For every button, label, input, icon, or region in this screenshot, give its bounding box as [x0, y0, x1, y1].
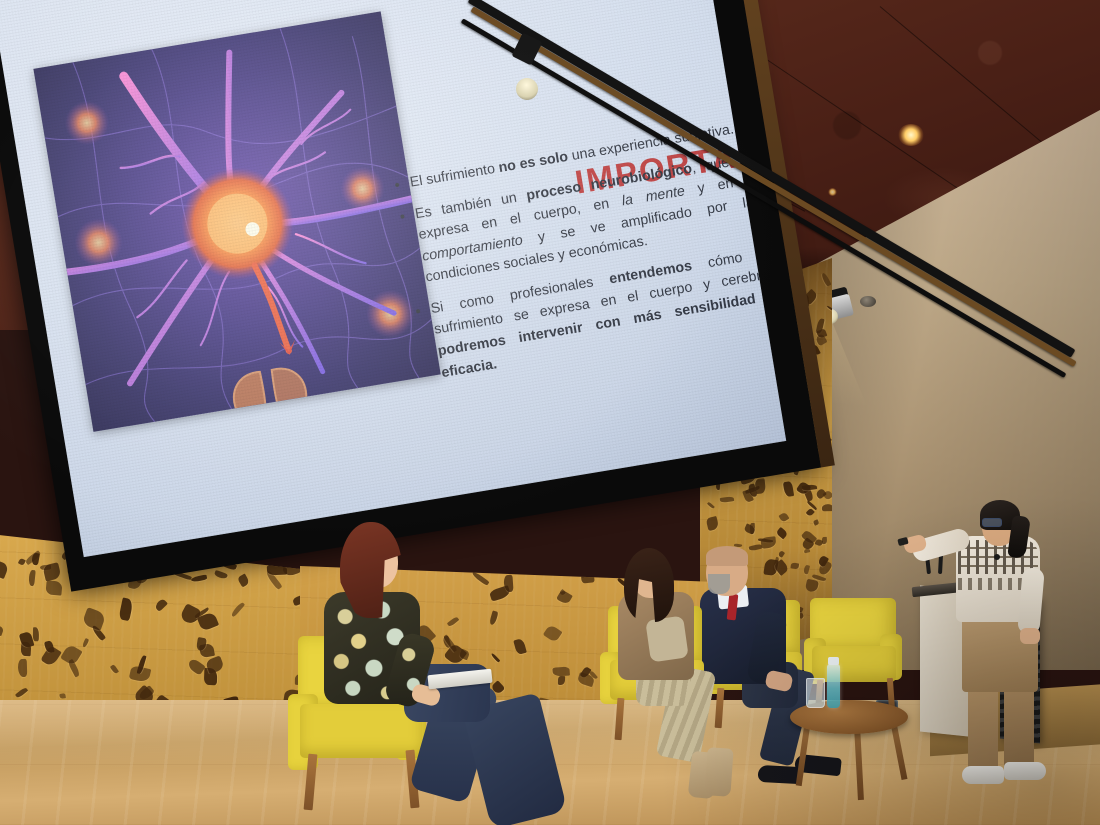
- presenter-shoe: [962, 766, 1004, 784]
- auditorium-scene: IMPORTANTE El sufrimiento no es solo una…: [0, 0, 1100, 825]
- slide-text-column: IMPORTANTE El sufrimiento no es solo una…: [369, 109, 787, 468]
- presenter-shoe: [1004, 762, 1046, 780]
- ceiling-spotlight-icon: [828, 188, 837, 196]
- presenter-leg: [968, 678, 998, 774]
- panelist-3-beard: [708, 574, 730, 594]
- drinking-glass[interactable]: [806, 678, 825, 708]
- ceiling-spotlight-icon: [898, 124, 924, 146]
- screen-surface: IMPORTANTE El sufrimiento no es solo una…: [0, 0, 786, 557]
- panelist-3-bald-head: [706, 546, 748, 566]
- projection-screen: IMPORTANTE El sufrimiento no es solo una…: [0, 0, 821, 592]
- bottle-cap-icon: [828, 657, 839, 665]
- eyeglasses-icon: [982, 518, 1002, 527]
- panelist-2-boot: [704, 747, 733, 797]
- presenter-hand: [1020, 628, 1040, 644]
- lapel-microphone-icon: [994, 554, 1000, 560]
- water-bottle[interactable]: [827, 664, 840, 708]
- security-camera-dome-icon: [860, 296, 876, 307]
- panelist-2-folded-arms: [645, 616, 688, 663]
